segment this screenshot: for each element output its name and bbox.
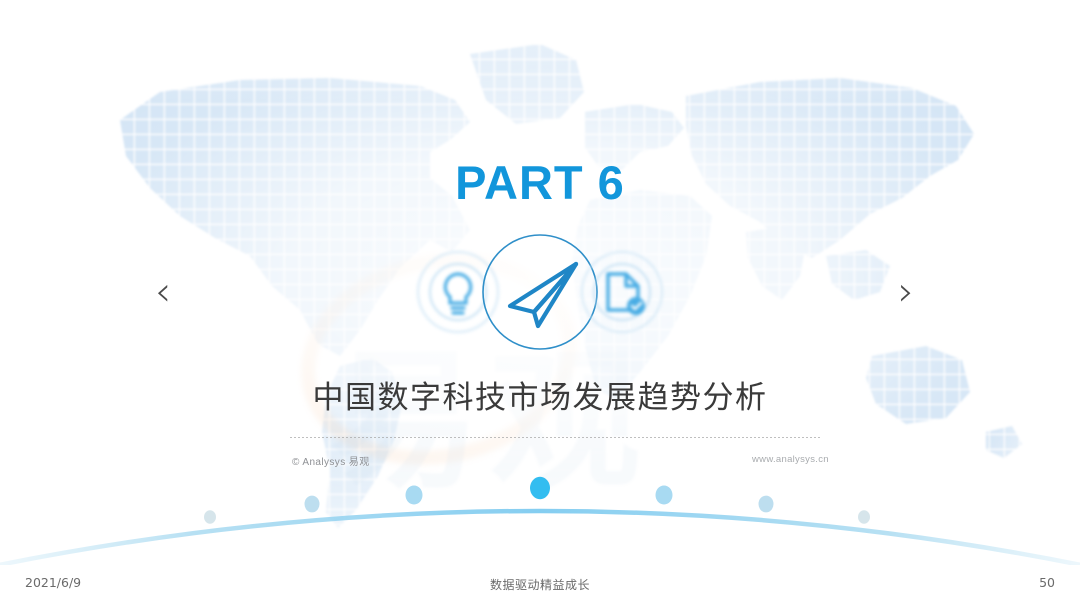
progress-dot[interactable] <box>406 485 423 504</box>
chevron-left-icon[interactable]: ‹ <box>155 272 171 312</box>
slide-heading: 中国数字科技市场发展趋势分析 <box>0 372 1080 417</box>
arc-line <box>0 511 1080 565</box>
part-title: PART 6 <box>0 155 1080 210</box>
progress-dot[interactable] <box>858 510 870 523</box>
footer-page-number: 50 <box>1039 575 1055 590</box>
dotted-divider <box>290 437 822 438</box>
progress-dot[interactable] <box>759 496 774 513</box>
progress-dot[interactable] <box>305 496 320 513</box>
icon-cluster <box>420 232 660 352</box>
presentation-slide: 易观 ‹ › PART 6 <box>0 0 1080 608</box>
document-check-icon <box>578 248 666 336</box>
progress-dot-group[interactable] <box>204 477 870 524</box>
progress-dot[interactable] <box>204 510 216 523</box>
footer-tagline: 数据驱动精益成长 <box>0 576 1080 593</box>
chevron-right-icon[interactable]: › <box>898 272 914 312</box>
progress-dot-active[interactable] <box>530 477 550 499</box>
progress-arc <box>0 455 1080 565</box>
progress-dot[interactable] <box>656 485 673 504</box>
